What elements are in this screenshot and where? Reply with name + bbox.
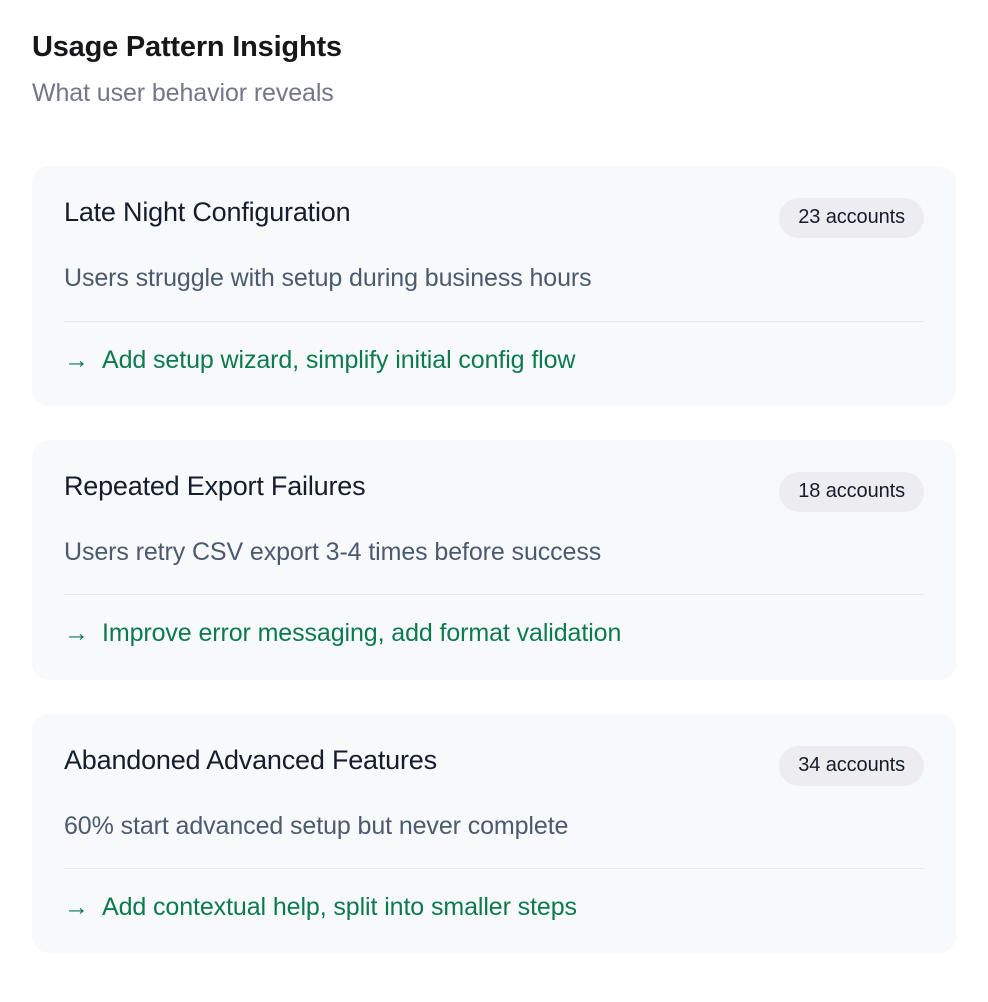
arrow-right-icon: → <box>64 618 89 649</box>
account-count-badge: 23 accounts <box>779 198 924 238</box>
insight-card-title: Repeated Export Failures <box>64 470 759 504</box>
panel-header: Usage Pattern Insights What user behavio… <box>0 0 988 109</box>
account-count-badge: 34 accounts <box>779 746 924 786</box>
account-count-badge: 18 accounts <box>779 472 924 512</box>
insight-card[interactable]: Abandoned Advanced Features 34 accounts … <box>32 714 956 954</box>
recommendation-text: Improve error messaging, add format vali… <box>102 618 621 649</box>
insight-card[interactable]: Repeated Export Failures 18 accounts Use… <box>32 440 956 680</box>
recommendation-text: Add contextual help, split into smaller … <box>102 892 577 923</box>
page-title: Usage Pattern Insights <box>32 30 956 65</box>
insight-card-header: Late Night Configuration 23 accounts <box>64 196 924 238</box>
insight-card-header: Abandoned Advanced Features 34 accounts <box>64 744 924 786</box>
recommendation-row[interactable]: → Add contextual help, split into smalle… <box>64 892 924 923</box>
insight-card-description: 60% start advanced setup but never compl… <box>64 810 924 843</box>
insight-card-title: Abandoned Advanced Features <box>64 744 759 778</box>
recommendation-text: Add setup wizard, simplify initial confi… <box>102 345 575 376</box>
card-divider <box>64 868 924 869</box>
insight-card-list: Late Night Configuration 23 accounts Use… <box>0 166 988 953</box>
page-subtitle: What user behavior reveals <box>32 78 956 109</box>
arrow-right-icon: → <box>64 892 89 923</box>
insight-card-title: Late Night Configuration <box>64 196 759 230</box>
recommendation-row[interactable]: → Add setup wizard, simplify initial con… <box>64 345 924 376</box>
insight-card-description: Users struggle with setup during busines… <box>64 262 924 295</box>
insight-card[interactable]: Late Night Configuration 23 accounts Use… <box>32 166 956 406</box>
card-divider <box>64 594 924 595</box>
insight-card-description: Users retry CSV export 3-4 times before … <box>64 536 924 569</box>
card-divider <box>64 321 924 322</box>
arrow-right-icon: → <box>64 345 89 376</box>
usage-pattern-insights-panel: Usage Pattern Insights What user behavio… <box>0 0 988 1002</box>
recommendation-row[interactable]: → Improve error messaging, add format va… <box>64 618 924 649</box>
insight-card-header: Repeated Export Failures 18 accounts <box>64 470 924 512</box>
